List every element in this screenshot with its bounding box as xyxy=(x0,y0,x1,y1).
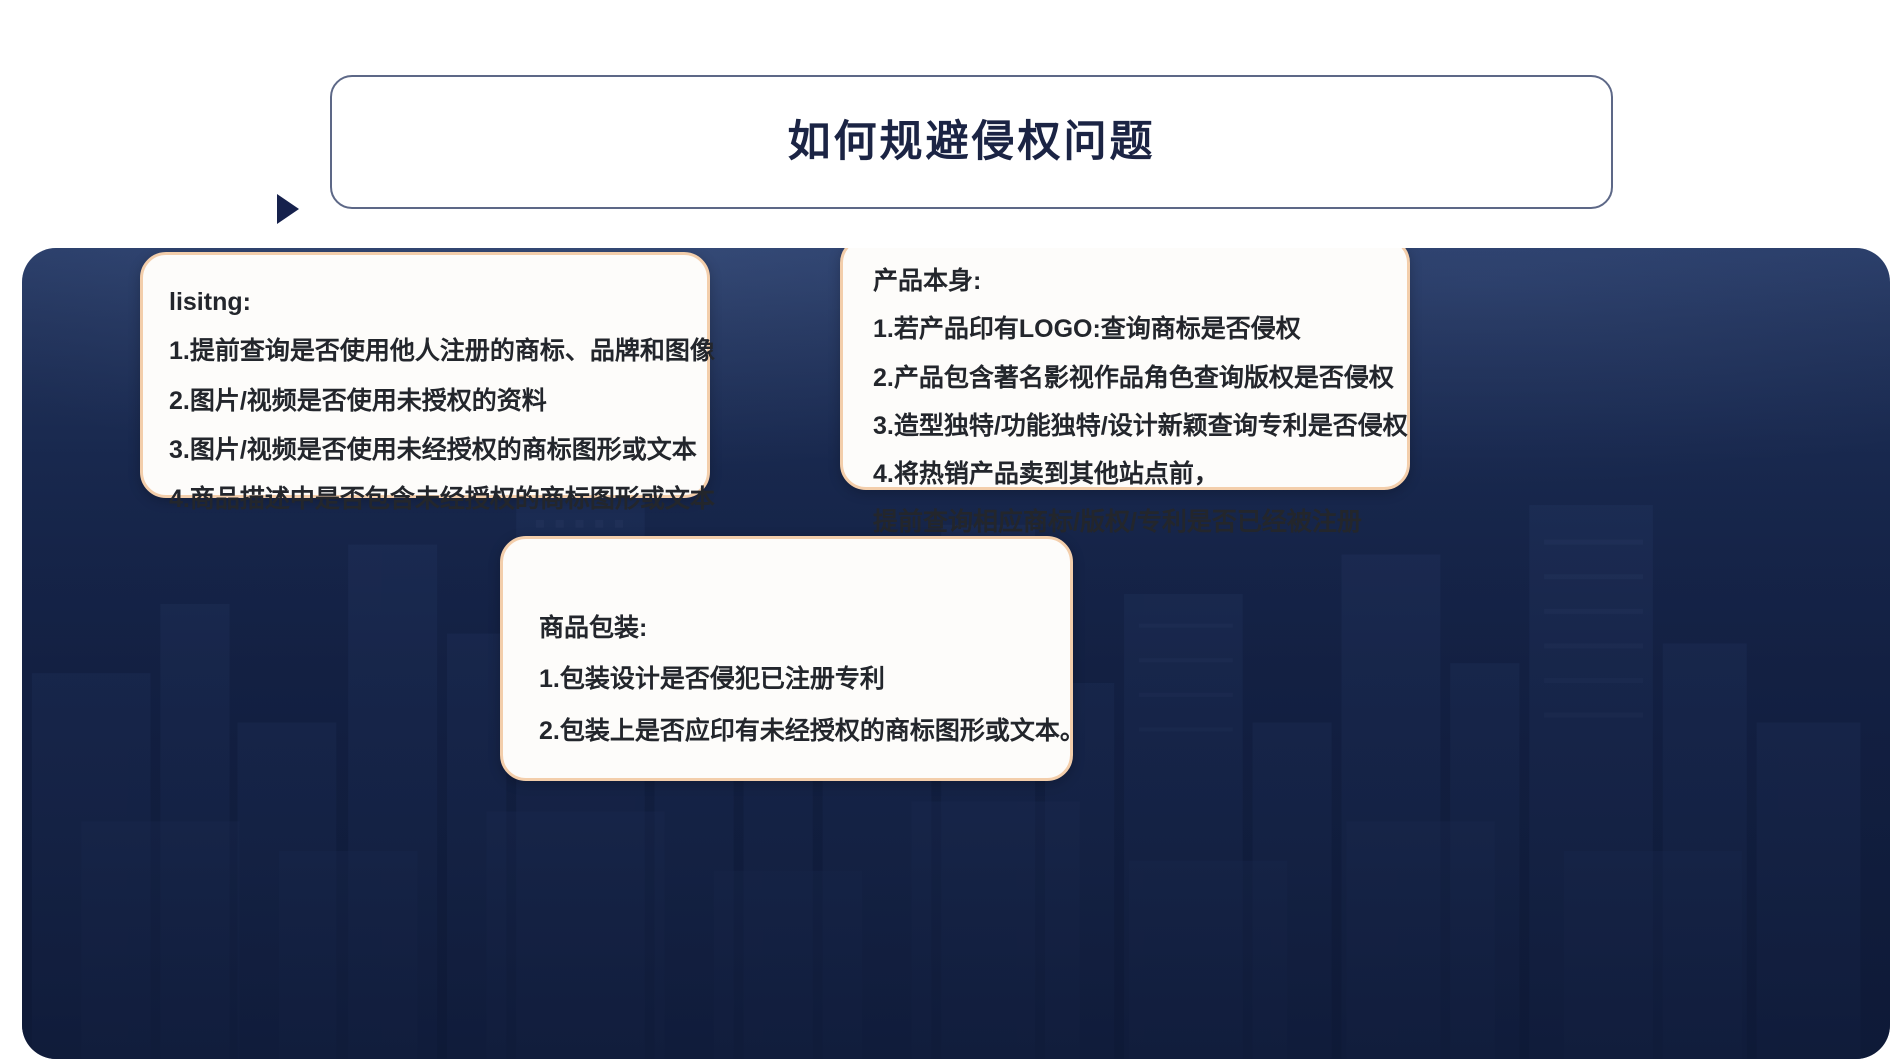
card-listing-line-1: 1.提前查询是否使用他人注册的商标、品牌和图像 xyxy=(169,336,681,367)
card-product-line-2: 2.产品包含著名影视作品角色查询版权是否侵权 xyxy=(873,363,1381,394)
card-packaging-line-1: 1.包装设计是否侵犯已注册专利 xyxy=(539,664,1044,695)
card-product-line-1: 1.若产品印有LOGO:查询商标是否侵权 xyxy=(873,314,1381,345)
card-listing-line-3: 3.图片/视频是否使用未经授权的商标图形或文本 xyxy=(169,435,681,466)
play-triangle-icon xyxy=(277,194,299,224)
card-listing: lisitng: 1.提前查询是否使用他人注册的商标、品牌和图像 2.图片/视频… xyxy=(140,252,710,498)
card-product: 产品本身: 1.若产品印有LOGO:查询商标是否侵权 2.产品包含著名影视作品角… xyxy=(840,248,1410,490)
card-product-line-5: 提前查询相应商标/版权/专利是否已经被注册 xyxy=(873,507,1381,538)
card-packaging-heading: 商品包装: xyxy=(539,613,1044,644)
card-packaging-content: 商品包装: 1.包装设计是否侵犯已注册专利 2.包装上是否应印有未经授权的商标图… xyxy=(503,539,1070,793)
card-product-line-3: 3.造型独特/功能独特/设计新颖查询专利是否侵权 xyxy=(873,411,1381,442)
cityscape-panel: lisitng: 1.提前查询是否使用他人注册的商标、品牌和图像 2.图片/视频… xyxy=(22,248,1890,1059)
card-listing-content: lisitng: 1.提前查询是否使用他人注册的商标、品牌和图像 2.图片/视频… xyxy=(143,255,707,541)
slide-canvas: 如何规避侵权问题 xyxy=(0,0,1890,1059)
card-listing-line-2: 2.图片/视频是否使用未授权的资料 xyxy=(169,386,681,417)
card-listing-heading: lisitng: xyxy=(169,287,681,318)
title-row: 如何规避侵权问题 xyxy=(0,66,1890,206)
title-box: 如何规避侵权问题 xyxy=(330,75,1613,209)
card-product-line-4: 4.将热销产品卖到其他站点前， xyxy=(873,459,1381,490)
card-packaging: 商品包装: 1.包装设计是否侵犯已注册专利 2.包装上是否应印有未经授权的商标图… xyxy=(500,536,1073,781)
page-title: 如何规避侵权问题 xyxy=(788,121,1156,164)
card-listing-line-4: 4.商品描述中是否包含未经授权的商标图形或文本 xyxy=(169,484,681,515)
card-product-content: 产品本身: 1.若产品印有LOGO:查询商标是否侵权 2.产品包含著名影视作品角… xyxy=(843,248,1407,582)
card-packaging-line-2: 2.包装上是否应印有未经授权的商标图形或文本。 xyxy=(539,716,1044,747)
card-product-heading: 产品本身: xyxy=(873,266,1381,297)
